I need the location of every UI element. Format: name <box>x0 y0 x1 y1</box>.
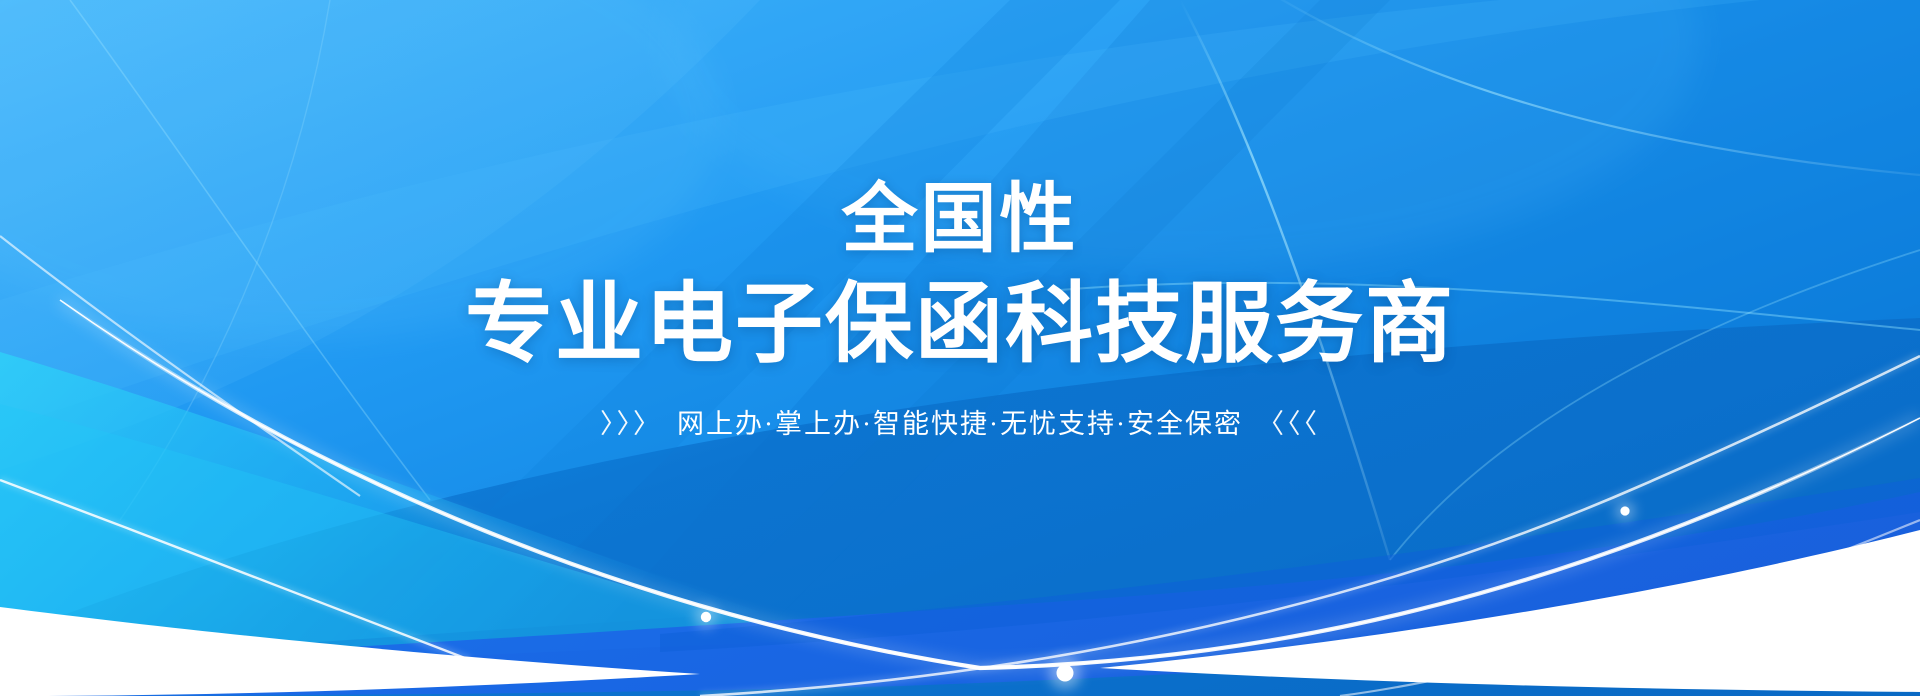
promo-banner: 全国性 专业电子保函科技服务商 〉〉〉 网上办·掌上办·智能快捷·无忧支持·安全… <box>0 0 1920 696</box>
background-artwork <box>0 0 1920 696</box>
